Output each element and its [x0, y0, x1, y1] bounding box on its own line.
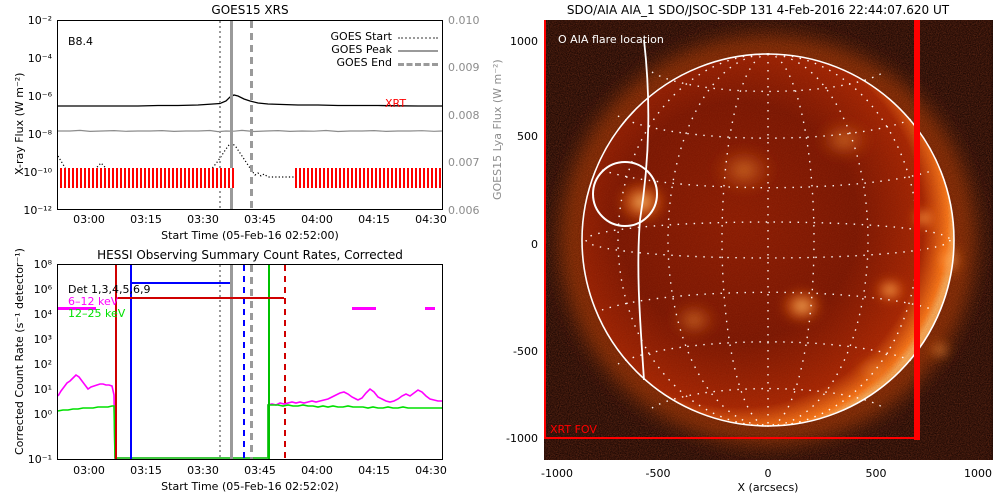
goes-xrs-panel: GOES15 XRS 10⁻² 10⁻⁴ 10⁻⁶ 10⁻⁸ 10⁻¹⁰ 10⁻…: [0, 0, 500, 240]
aia-xtick: -1000: [541, 468, 573, 479]
aia-ytick: 1000: [510, 36, 538, 47]
goes-xrt-coverage-bar-1: [60, 168, 234, 188]
goes-xtick: 04:15: [358, 214, 390, 225]
hessi-bar-red: [115, 297, 284, 299]
goes-ytick: 10⁻¹²: [23, 205, 52, 216]
goes-xtick: 04:00: [301, 214, 333, 225]
hessi-ytick: 10⁻¹: [28, 454, 52, 465]
hessi-marker-goes-start: [219, 265, 221, 459]
hessi-ylabel: Corrected Count Rate (s⁻¹ detector⁻¹): [14, 248, 25, 455]
goes-ytick-right: 0.010: [448, 15, 480, 26]
xrt-fov-annotation: XRT FOV: [550, 424, 597, 435]
hessi-title: HESSI Observing Summary Count Rates, Cor…: [97, 249, 403, 261]
goes-xtick: 03:15: [130, 214, 162, 225]
hessi-ytick: 10¹: [34, 384, 52, 395]
aia-flare-location-circle: [592, 161, 658, 227]
goes-ytick: 10⁻⁶: [28, 91, 52, 102]
hessi-ytick: 10⁰: [34, 409, 52, 420]
goes-ytick-right: 0.007: [448, 157, 480, 168]
aia-sun-render: [544, 20, 993, 460]
hessi-legend-6-12: 6–12 keV: [68, 296, 118, 307]
aia-xtick: 1000: [964, 468, 992, 479]
xrt-fov-vertical-line: [914, 20, 920, 440]
goes-ytick: 10⁻¹⁰: [23, 167, 52, 178]
aia-ytick: 500: [517, 131, 538, 142]
goes-xrt-coverage-bar-2: [295, 168, 442, 188]
hessi-ytick: 10⁸: [34, 259, 52, 270]
hessi-marker-green: [268, 265, 270, 459]
xrt-fov-left-edge: [544, 20, 546, 439]
hessi-detectors-label: Det 1,3,4,5,6,9: [68, 284, 151, 295]
aia-xtick: 500: [866, 468, 887, 479]
goes-ytick-right: 0.008: [448, 110, 480, 121]
goes-ylabel: X-ray Flux (W m⁻²): [14, 73, 25, 175]
hessi-ytick: 10³: [34, 334, 52, 345]
goes-ytick-right: 0.009: [448, 62, 480, 73]
hessi-marker-blue-end: [243, 265, 245, 459]
hessi-xtick: 04:30: [415, 465, 447, 476]
goes-xtick: 04:30: [415, 214, 447, 225]
hessi-legend-12-25: 12–25 keV: [68, 308, 125, 319]
hessi-xtick: 03:30: [187, 465, 219, 476]
goes-ytick-right: 0.006: [448, 205, 480, 216]
aia-image-canvas[interactable]: O AIA flare location XRT FOV: [544, 20, 993, 460]
hessi-xtick: 04:00: [301, 465, 333, 476]
aia-flare-annotation: O AIA flare location: [558, 34, 664, 45]
hessi-marker-red-end: [284, 265, 286, 459]
aia-ytick: -1000: [506, 433, 538, 444]
goes-title: GOES15 XRS: [211, 4, 288, 16]
hessi-xtick: 03:00: [73, 465, 105, 476]
aia-xlabel: X (arcsecs): [738, 482, 799, 493]
hessi-xlabel: Start Time (05-Feb-16 02:52:02): [161, 481, 339, 492]
aia-title: SDO/AIA AIA_1 SDO/JSOC-SDP 131 4-Feb-201…: [567, 4, 949, 16]
goes-xtick: 03:45: [244, 214, 276, 225]
goes-xtick: 03:30: [187, 214, 219, 225]
goes-ytick: 10⁻²: [28, 15, 52, 26]
sdo-aia-image-panel: SDO/AIA AIA_1 SDO/JSOC-SDP 131 4-Feb-201…: [500, 0, 1000, 500]
goes-marker-end: [250, 21, 253, 209]
goes-xtick: 03:00: [73, 214, 105, 225]
hessi-ytick: 10⁴: [34, 309, 52, 320]
goes-ytick: 10⁻⁴: [28, 53, 52, 64]
hessi-bar-night-2: [425, 307, 435, 310]
hessi-ytick: 10⁶: [34, 284, 52, 295]
hessi-ytick: 10²: [34, 359, 52, 370]
xrt-fov-horizontal-line: [544, 437, 920, 439]
goes-xrt-label: XRT: [385, 98, 406, 109]
hessi-xtick: 03:45: [244, 465, 276, 476]
aia-ytick: 0: [531, 239, 538, 250]
hessi-count-rates-panel: HESSI Observing Summary Count Rates, Cor…: [0, 240, 500, 500]
aia-xtick: 0: [765, 468, 772, 479]
hessi-marker-goes-end: [250, 265, 253, 459]
hessi-bar-night-1: [352, 307, 376, 310]
aia-xtick: -500: [646, 468, 671, 479]
hessi-xtick: 03:15: [130, 465, 162, 476]
goes-ytick: 10⁻⁸: [28, 129, 52, 140]
goes-plot-area: [58, 21, 442, 209]
aia-ytick: -500: [513, 346, 538, 357]
hessi-marker-goes-peak: [230, 265, 233, 459]
hessi-xtick: 04:15: [358, 465, 390, 476]
